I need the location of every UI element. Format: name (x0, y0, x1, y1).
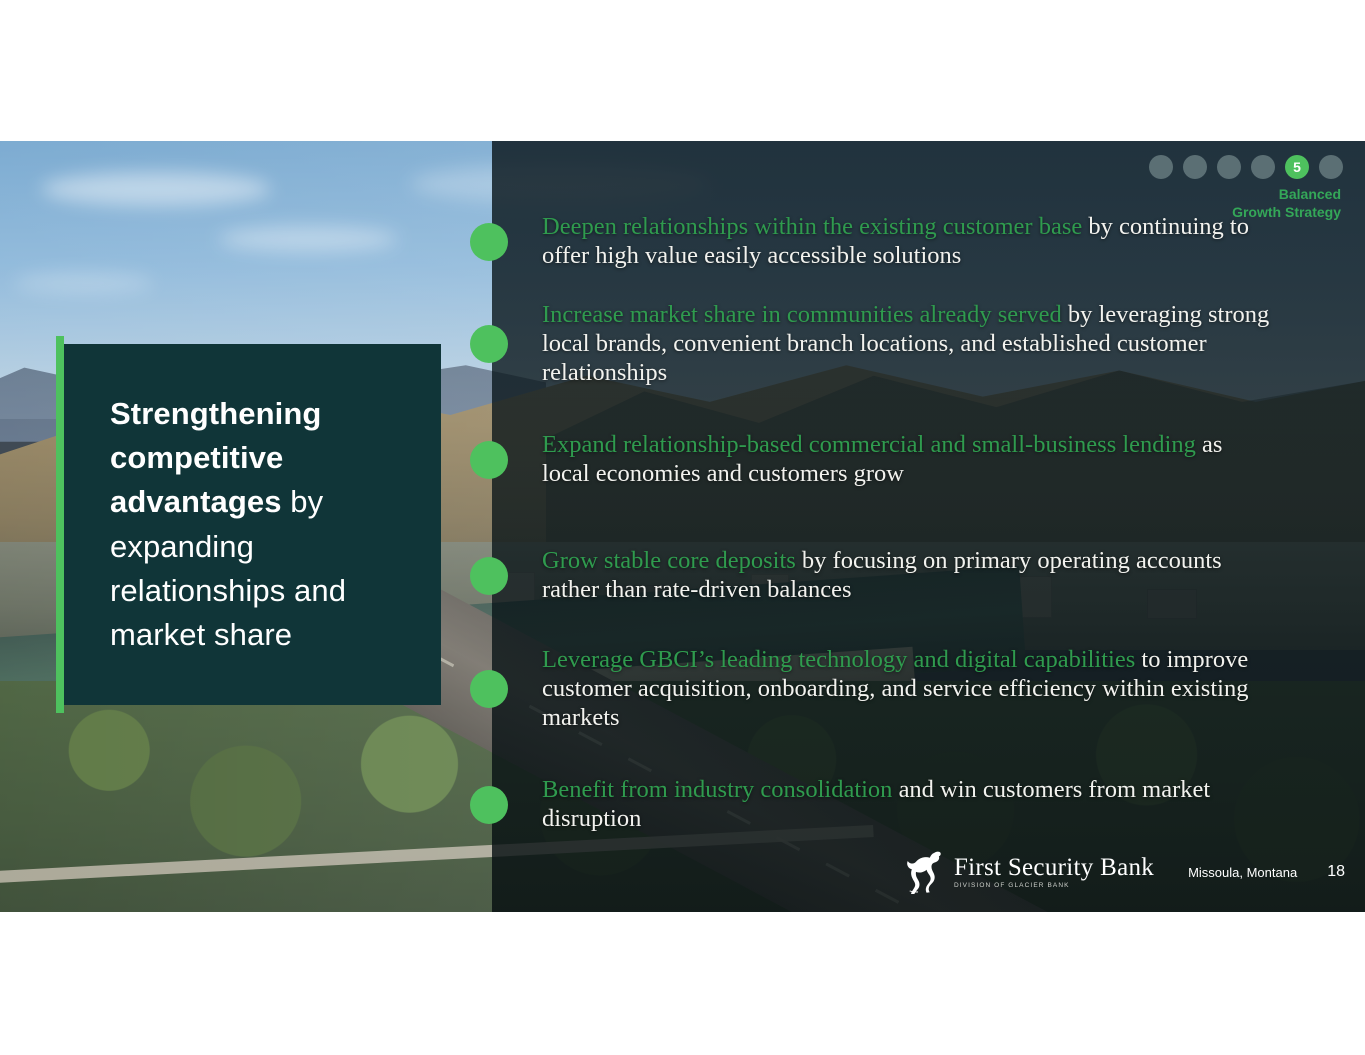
bullet-dot-icon (470, 441, 508, 479)
footer: First Security Bank DIVISION OF GLACIER … (904, 850, 1345, 894)
title-accent-bar (56, 336, 64, 713)
list-item: Grow stable core deposits by focusing on… (470, 547, 1270, 605)
bullet-list: Deepen relationships within the existing… (470, 141, 1345, 912)
page-canvas: Strengthening competitive advantages by … (0, 0, 1365, 1055)
page-number: 18 (1327, 863, 1345, 881)
bullet-lead: Deepen relationships within the existing… (542, 213, 1082, 240)
bullet-dot-icon (470, 325, 508, 363)
bullet-lead: Grow stable core deposits (542, 547, 796, 574)
progress-dot-1[interactable] (1149, 155, 1173, 179)
bullet-text: Benefit from industry consolidation and … (542, 776, 1270, 834)
first-security-bank-logo: First Security Bank DIVISION OF GLACIER … (904, 850, 1154, 894)
bullet-dot-icon (470, 557, 508, 595)
page-title: Strengthening competitive advantages by … (64, 392, 441, 656)
progress-dot-3[interactable] (1217, 155, 1241, 179)
progress-dot-5-active[interactable]: 5 (1285, 155, 1309, 179)
bullet-dot-icon (470, 786, 508, 824)
list-item: Leverage GBCI’s leading technology and d… (470, 646, 1270, 733)
chapter-label-line2: Growth Strategy (1143, 204, 1341, 222)
slide: Strengthening competitive advantages by … (0, 141, 1365, 912)
bullet-lead: Leverage GBCI’s leading technology and d… (542, 646, 1135, 673)
cloud (218, 226, 398, 252)
bullet-text: Leverage GBCI’s leading technology and d… (542, 646, 1270, 733)
progress-dot-4[interactable] (1251, 155, 1275, 179)
running-horse-icon (904, 850, 946, 894)
progress-dot-6[interactable] (1319, 155, 1343, 179)
chapter-label-line1: Balanced (1143, 186, 1341, 204)
list-item: Expand relationship-based commercial and… (470, 431, 1270, 489)
logo-name: First Security Bank (954, 855, 1154, 880)
bullet-text: Increase market share in communities alr… (542, 301, 1270, 388)
bullet-dot-icon (470, 223, 508, 261)
title-card-body: Strengthening competitive advantages by … (64, 344, 441, 705)
progress-dots: 5 (1149, 155, 1343, 179)
bullet-lead: Benefit from industry consolidation (542, 776, 892, 803)
location-label: Missoula, Montana (1188, 865, 1297, 880)
cloud (14, 272, 154, 294)
list-item: Benefit from industry consolidation and … (470, 776, 1270, 834)
list-item: Increase market share in communities alr… (470, 301, 1270, 388)
logo-wordmark: First Security Bank DIVISION OF GLACIER … (954, 855, 1154, 890)
chapter-label: Balanced Growth Strategy (1143, 186, 1343, 222)
bullet-text: Expand relationship-based commercial and… (542, 431, 1270, 489)
logo-subtitle: DIVISION OF GLACIER BANK (954, 883, 1154, 890)
bullet-lead: Increase market share in communities alr… (542, 301, 1062, 328)
bullet-dot-icon (470, 670, 508, 708)
progress-dot-2[interactable] (1183, 155, 1207, 179)
cloud (41, 172, 271, 206)
bullet-text: Grow stable core deposits by focusing on… (542, 547, 1270, 605)
bullet-lead: Expand relationship-based commercial and… (542, 431, 1196, 458)
title-card: Strengthening competitive advantages by … (56, 344, 441, 705)
chapter-progress-indicator: 5 Balanced Growth Strategy (1143, 155, 1343, 222)
